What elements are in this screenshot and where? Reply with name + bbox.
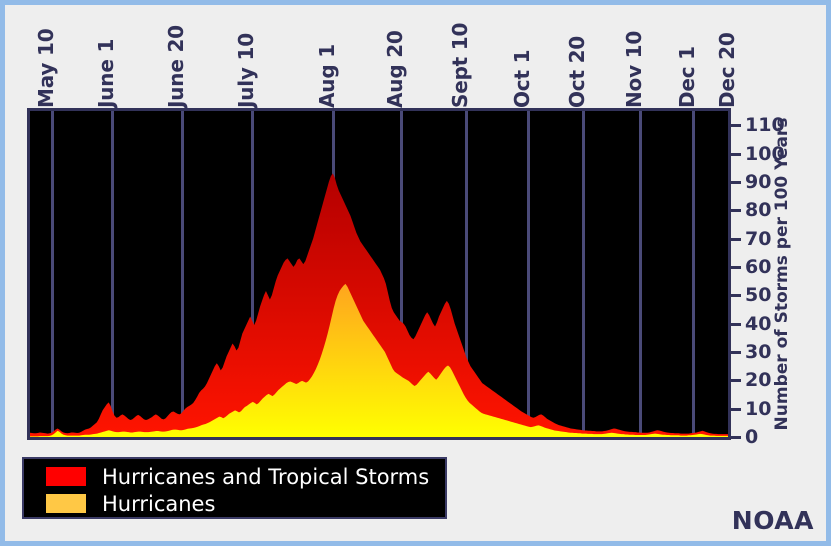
y-axis-tick: [731, 266, 741, 269]
noaa-watermark: NOAA: [732, 506, 814, 535]
y-axis-tick: [731, 294, 741, 297]
x-axis-tick-label: June 20: [164, 25, 188, 108]
y-axis-tick: [731, 153, 741, 156]
y-axis-tick: [731, 379, 741, 382]
y-axis-tick: [731, 351, 741, 354]
x-axis-labels: May 10June 1June 20July 10Aug 1Aug 20Sep…: [5, 5, 826, 108]
x-axis-tick-label: Oct 1: [510, 50, 534, 108]
x-axis-tick-label: Nov 10: [622, 31, 646, 108]
legend-label-hurricanes: Hurricanes: [102, 492, 215, 516]
y-axis-tick: [731, 436, 741, 439]
x-axis-tick-label: May 10: [34, 29, 58, 108]
legend-item-hurricanes: Hurricanes: [46, 490, 445, 517]
y-axis-tick: [731, 323, 741, 326]
chart-figure: May 10June 1June 20July 10Aug 1Aug 20Sep…: [5, 5, 826, 541]
x-axis-tick-label: Aug 1: [315, 44, 339, 108]
plot-area: [27, 108, 731, 440]
x-axis-tick-label: Oct 20: [565, 36, 589, 108]
x-axis-tick-label: July 10: [234, 33, 258, 108]
y-axis-title-label: Number of Storms per 100 Years: [772, 118, 792, 431]
y-axis-tick: [731, 408, 741, 411]
chart-legend: Hurricanes and Tropical Storms Hurricane…: [22, 457, 447, 519]
y-axis-title: Number of Storms per 100 Years: [762, 108, 802, 440]
y-axis-tick: [731, 181, 741, 184]
plot-inner: [30, 111, 728, 437]
y-axis-tick-label: 0: [745, 426, 758, 448]
legend-item-storms: Hurricanes and Tropical Storms: [46, 463, 445, 490]
y-axis-tick: [731, 124, 741, 127]
y-axis-tick: [731, 209, 741, 212]
x-axis-tick-label: Aug 20: [383, 30, 407, 108]
legend-swatch-storms: [46, 467, 86, 486]
x-axis-tick-label: Sept 10: [448, 23, 472, 108]
x-axis-tick-label: Dec 20: [715, 32, 739, 108]
legend-swatch-hurricanes: [46, 494, 86, 513]
y-axis-tick: [731, 238, 741, 241]
legend-label-storms: Hurricanes and Tropical Storms: [102, 465, 429, 489]
x-axis-tick-label: June 1: [94, 39, 118, 108]
x-axis-tick-label: Dec 1: [675, 46, 699, 108]
area-series-container: [30, 111, 728, 437]
